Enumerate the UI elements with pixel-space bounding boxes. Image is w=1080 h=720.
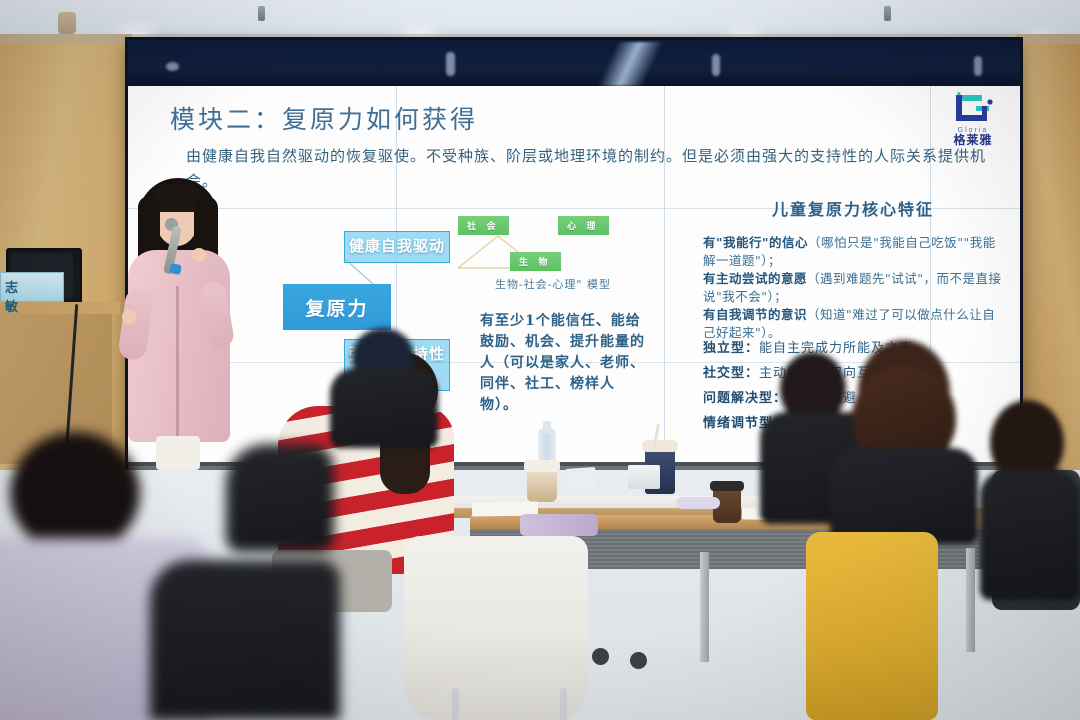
right-panel-heading: 儿童复原力核心特征 [703,196,1003,220]
presenter-hand-left [122,310,136,324]
tissue-pack [565,467,596,491]
presenter [120,178,238,468]
table-leg [700,552,709,662]
screen-reflection [712,54,720,76]
logo-text-cn: 格莱雅 [953,134,992,147]
diagram-box-resilience: 复原力 [283,284,391,330]
bottle-cap [543,421,551,433]
point-item: 有"我能行"的信心（哪怕只是"我能自己吃饭""我能解一道题"）； [703,234,1003,270]
type-label: 独立型： [703,341,759,356]
attendee-torso [330,368,438,448]
tissue-box [628,465,660,489]
sprinkler-icon [258,6,265,21]
fabric-item [520,514,598,536]
type-label: 社交型： [703,366,759,381]
table-caster [592,648,609,665]
model-caption: 生物-社会-心理" 模型 [458,276,648,292]
model-tag-social: 社 会 [458,216,509,235]
attendee-dark-coat-left [330,328,440,448]
coat-on-chair [226,444,336,554]
name-card-text: 志 敏 [5,277,63,315]
sprinkler-icon [884,6,891,21]
point-strong: 有主动尝试的意愿 [703,271,807,286]
coat-opening [176,286,179,438]
attendee-torso [980,470,1080,600]
model-tag-psychological: 心 理 [558,216,609,235]
point-strong: 有"我能行"的信心 [703,235,808,250]
screen-glare [558,42,708,86]
model-tag-biological: 生 物 [510,252,561,271]
attendee-foreground-dark [150,560,340,720]
presenter-hand-right [192,248,206,262]
point-strong: 有自我调节的意识 [703,307,807,322]
ceiling-speaker [58,12,76,34]
cup-lid [642,440,678,452]
cup-lid [710,481,744,491]
screen-reflection [974,56,982,76]
screen-reflection [166,62,179,71]
chair-leg [452,688,459,720]
draped-coat [226,444,334,552]
cup-lid [524,460,560,472]
chair-yellow-right[interactable] [806,532,938,720]
support-note-text: 有至少1个能信任、能给鼓励、机会、提升能量的人（可以是家人、老师、同伴、社工、榜… [480,311,645,416]
attendee-head [10,432,140,554]
table-leg [966,548,975,652]
photo-scene: 模块二：复原力如何获得 由健康自我自然驱动的恢复驱使。不受种族、阶层或地理环境的… [0,0,1080,720]
gloria-g-logo-icon [952,92,994,126]
snack-plate [676,497,720,509]
brand-logo: Gloria 格莱雅 [940,92,1006,150]
right-panel-points: 有"我能行"的信心（哪怕只是"我能自己吃饭""我能解一道题"）； 有主动尝试的意… [703,234,1003,342]
attendee-torso [830,448,978,544]
screen-reflection [446,52,455,76]
table-caster [630,652,647,669]
diagram-box-self-drive: 健康自我驱动 [344,231,450,263]
microphone-band [169,263,182,275]
attendee-torso [150,560,340,720]
attendee-curly-hair [830,340,980,540]
point-item: 有主动尝试的意愿（遇到难题先"试试"，而不是直接说"我不会"）； [703,270,1003,306]
chair-leg [560,688,567,720]
attendee-far-right [980,400,1080,600]
name-card: 志 敏 [0,272,64,302]
